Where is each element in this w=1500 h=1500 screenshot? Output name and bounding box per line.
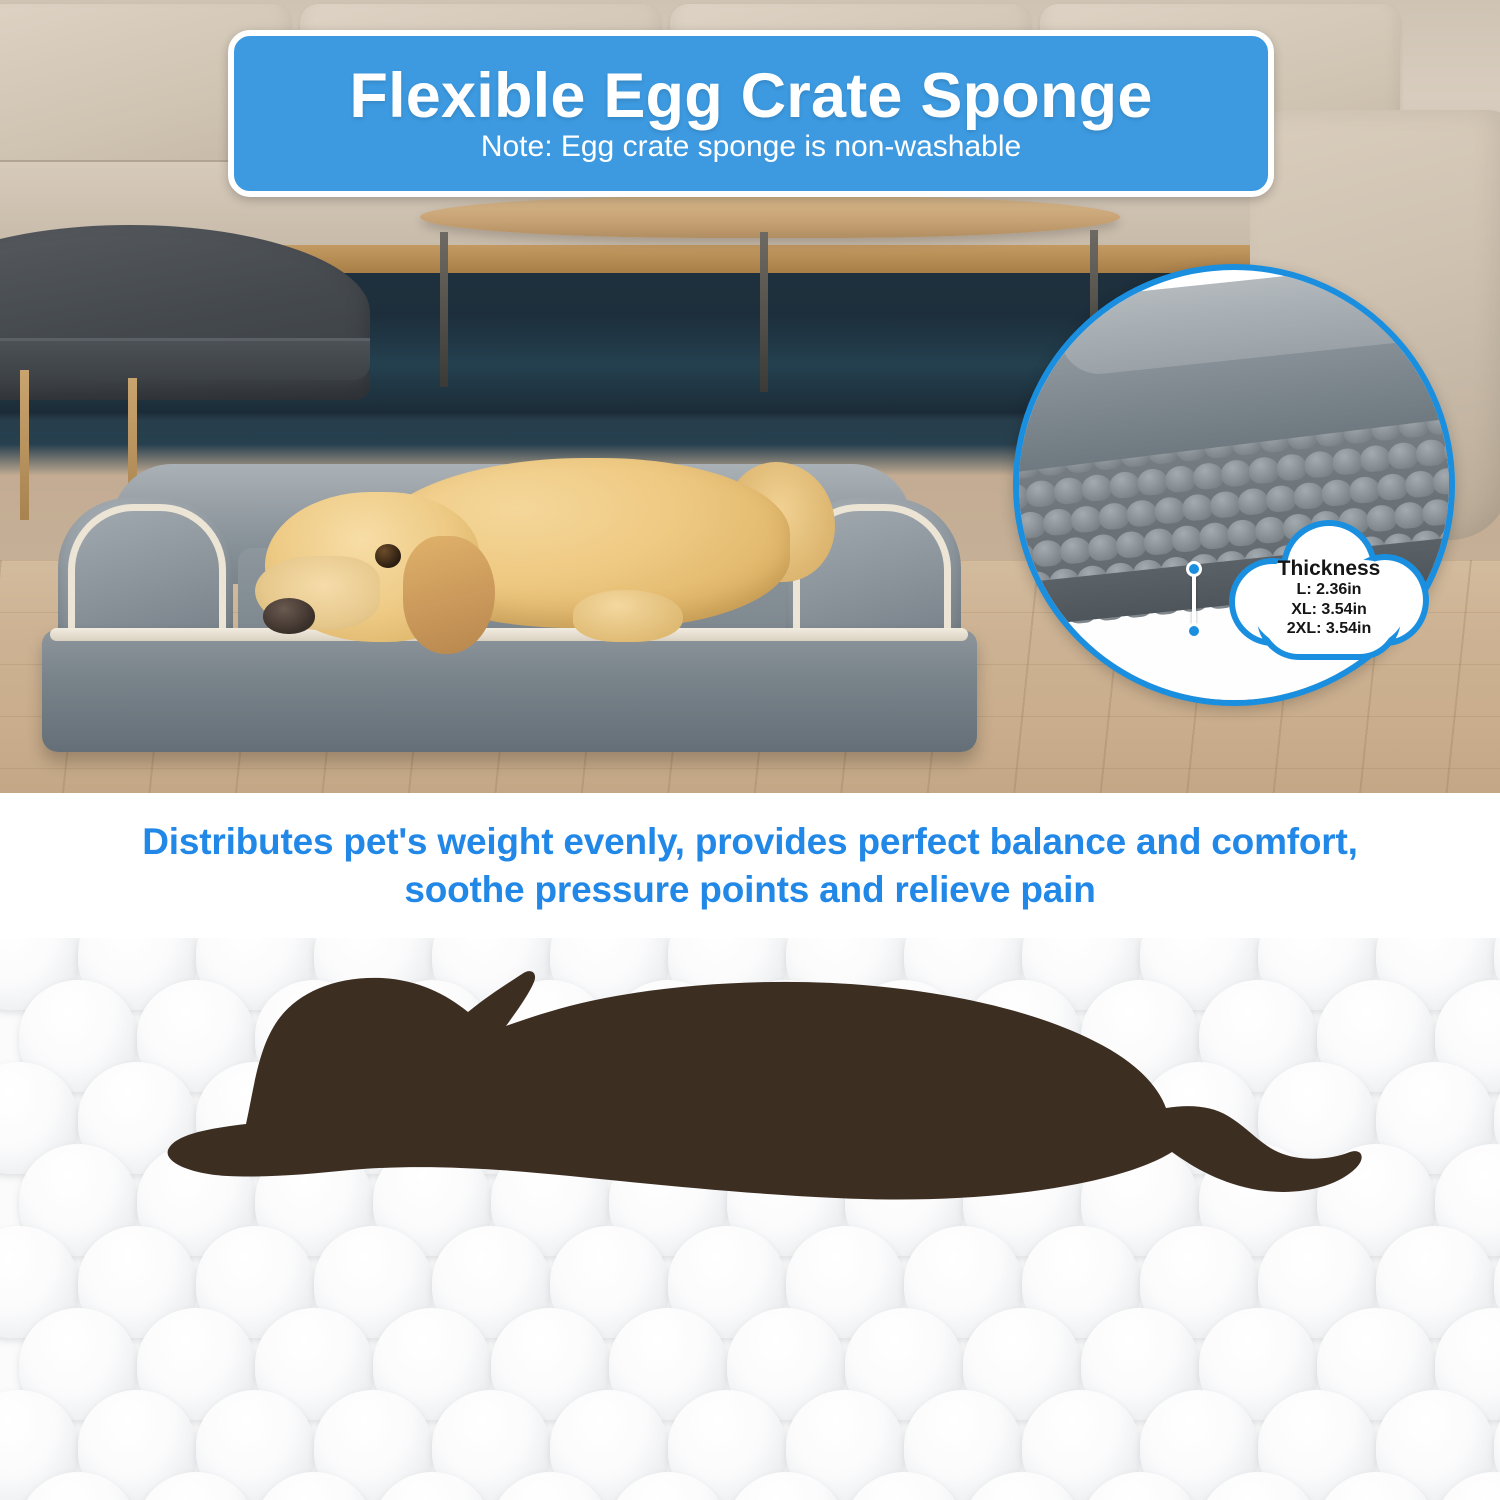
coffee-table-top (420, 196, 1120, 238)
table-leg-2 (760, 232, 768, 392)
dog-eye (375, 544, 401, 568)
lifestyle-photo-section: Thickness L: 2.36in XL: 3.54in 2XL: 3.54… (0, 0, 1500, 793)
measure-bar (1192, 569, 1196, 631)
table-leg-1 (440, 232, 448, 387)
caption-line-2: soothe pressure points and relieve pain (404, 869, 1095, 910)
accent-chair-rim (0, 338, 370, 380)
thickness-callout-text: Thickness L: 2.36in XL: 3.54in 2XL: 3.54… (1229, 520, 1429, 666)
infographic-page: Thickness L: 2.36in XL: 3.54in 2XL: 3.54… (0, 0, 1500, 1500)
caption-band: Distributes pet's weight evenly, provide… (0, 793, 1500, 938)
dog-ear (403, 536, 495, 654)
measure-dot-top-icon (1186, 561, 1202, 577)
caption-line-1: Distributes pet's weight evenly, provide… (142, 821, 1357, 862)
dog-paw (573, 590, 683, 642)
bed-arm-piping-left (68, 504, 226, 646)
dog-nose (263, 598, 315, 634)
banner-title: Flexible Egg Crate Sponge (349, 64, 1152, 128)
header-banner: Flexible Egg Crate Sponge Note: Egg crat… (228, 30, 1274, 197)
thickness-measure-line (1190, 563, 1198, 637)
thickness-callout-cloud: Thickness L: 2.36in XL: 3.54in 2XL: 3.54… (1229, 520, 1429, 666)
thickness-title: Thickness (1278, 558, 1381, 579)
thickness-line-xl: XL: 3.54in (1291, 602, 1367, 619)
thickness-line-2xl: 2XL: 3.54in (1287, 621, 1371, 638)
golden-retriever-dog (255, 448, 785, 668)
banner-note: Note: Egg crate sponge is non-washable (481, 130, 1021, 163)
dog-silhouette-icon (150, 938, 1365, 1208)
pressure-relief-diagram (0, 938, 1500, 1500)
measure-dot-bottom-icon (1186, 623, 1202, 639)
chair-leg-left (20, 370, 29, 520)
thickness-line-l: L: 2.36in (1297, 582, 1362, 599)
